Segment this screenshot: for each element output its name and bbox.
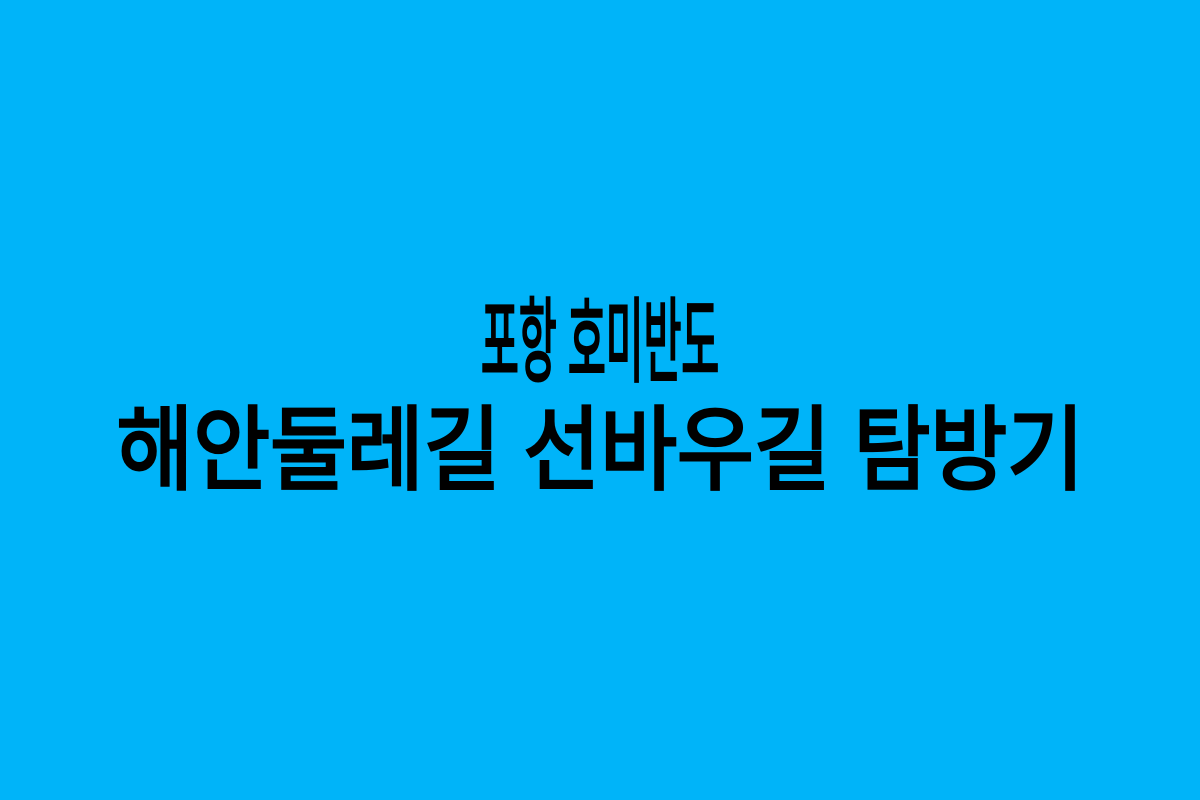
title-line-1: 포항 호미반도 [330,289,869,397]
banner-canvas: 포항 호미반도 해안둘레길 선바우길 탐방기 [0,0,1200,800]
title-block: 포항 호미반도 해안둘레길 선바우길 탐방기 [0,289,1200,505]
title-line-2: 해안둘레길 선바우길 탐방기 [53,397,1148,505]
